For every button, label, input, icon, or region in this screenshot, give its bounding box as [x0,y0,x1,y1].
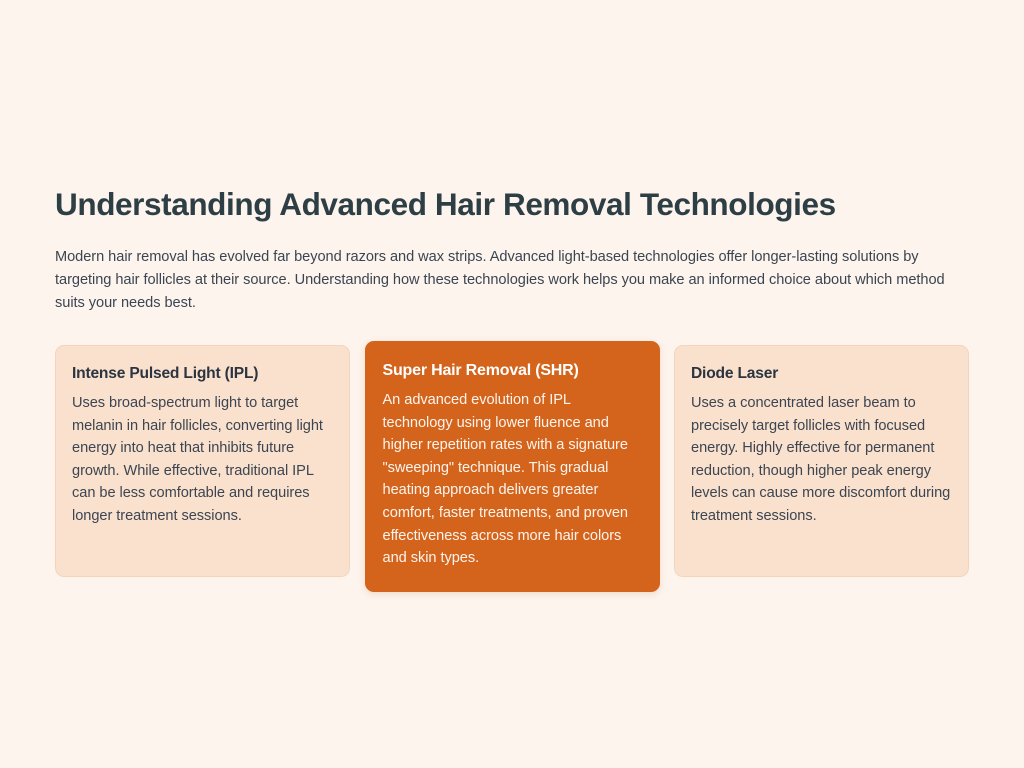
article-content: Understanding Advanced Hair Removal Tech… [55,185,969,314]
card-title: Diode Laser [691,363,952,384]
card-description: Uses a concentrated laser beam to precis… [691,392,952,528]
article-page: Understanding Advanced Hair Removal Tech… [0,0,1024,768]
card-description: An advanced evolution of IPL technology … [383,389,642,570]
intro-paragraph: Modern hair removal has evolved far beyo… [55,223,967,314]
technology-card-ipl: Intense Pulsed Light (IPL) Uses broad-sp… [55,345,350,577]
card-title: Intense Pulsed Light (IPL) [72,363,333,384]
card-title: Super Hair Removal (SHR) [383,360,642,381]
technology-card-diode-laser: Diode Laser Uses a concentrated laser be… [674,345,969,577]
technology-card-list: Intense Pulsed Light (IPL) Uses broad-sp… [55,341,969,592]
card-description: Uses broad-spectrum light to target mela… [72,392,333,528]
page-title: Understanding Advanced Hair Removal Tech… [55,185,969,223]
technology-card-shr: Super Hair Removal (SHR) An advanced evo… [365,341,660,592]
